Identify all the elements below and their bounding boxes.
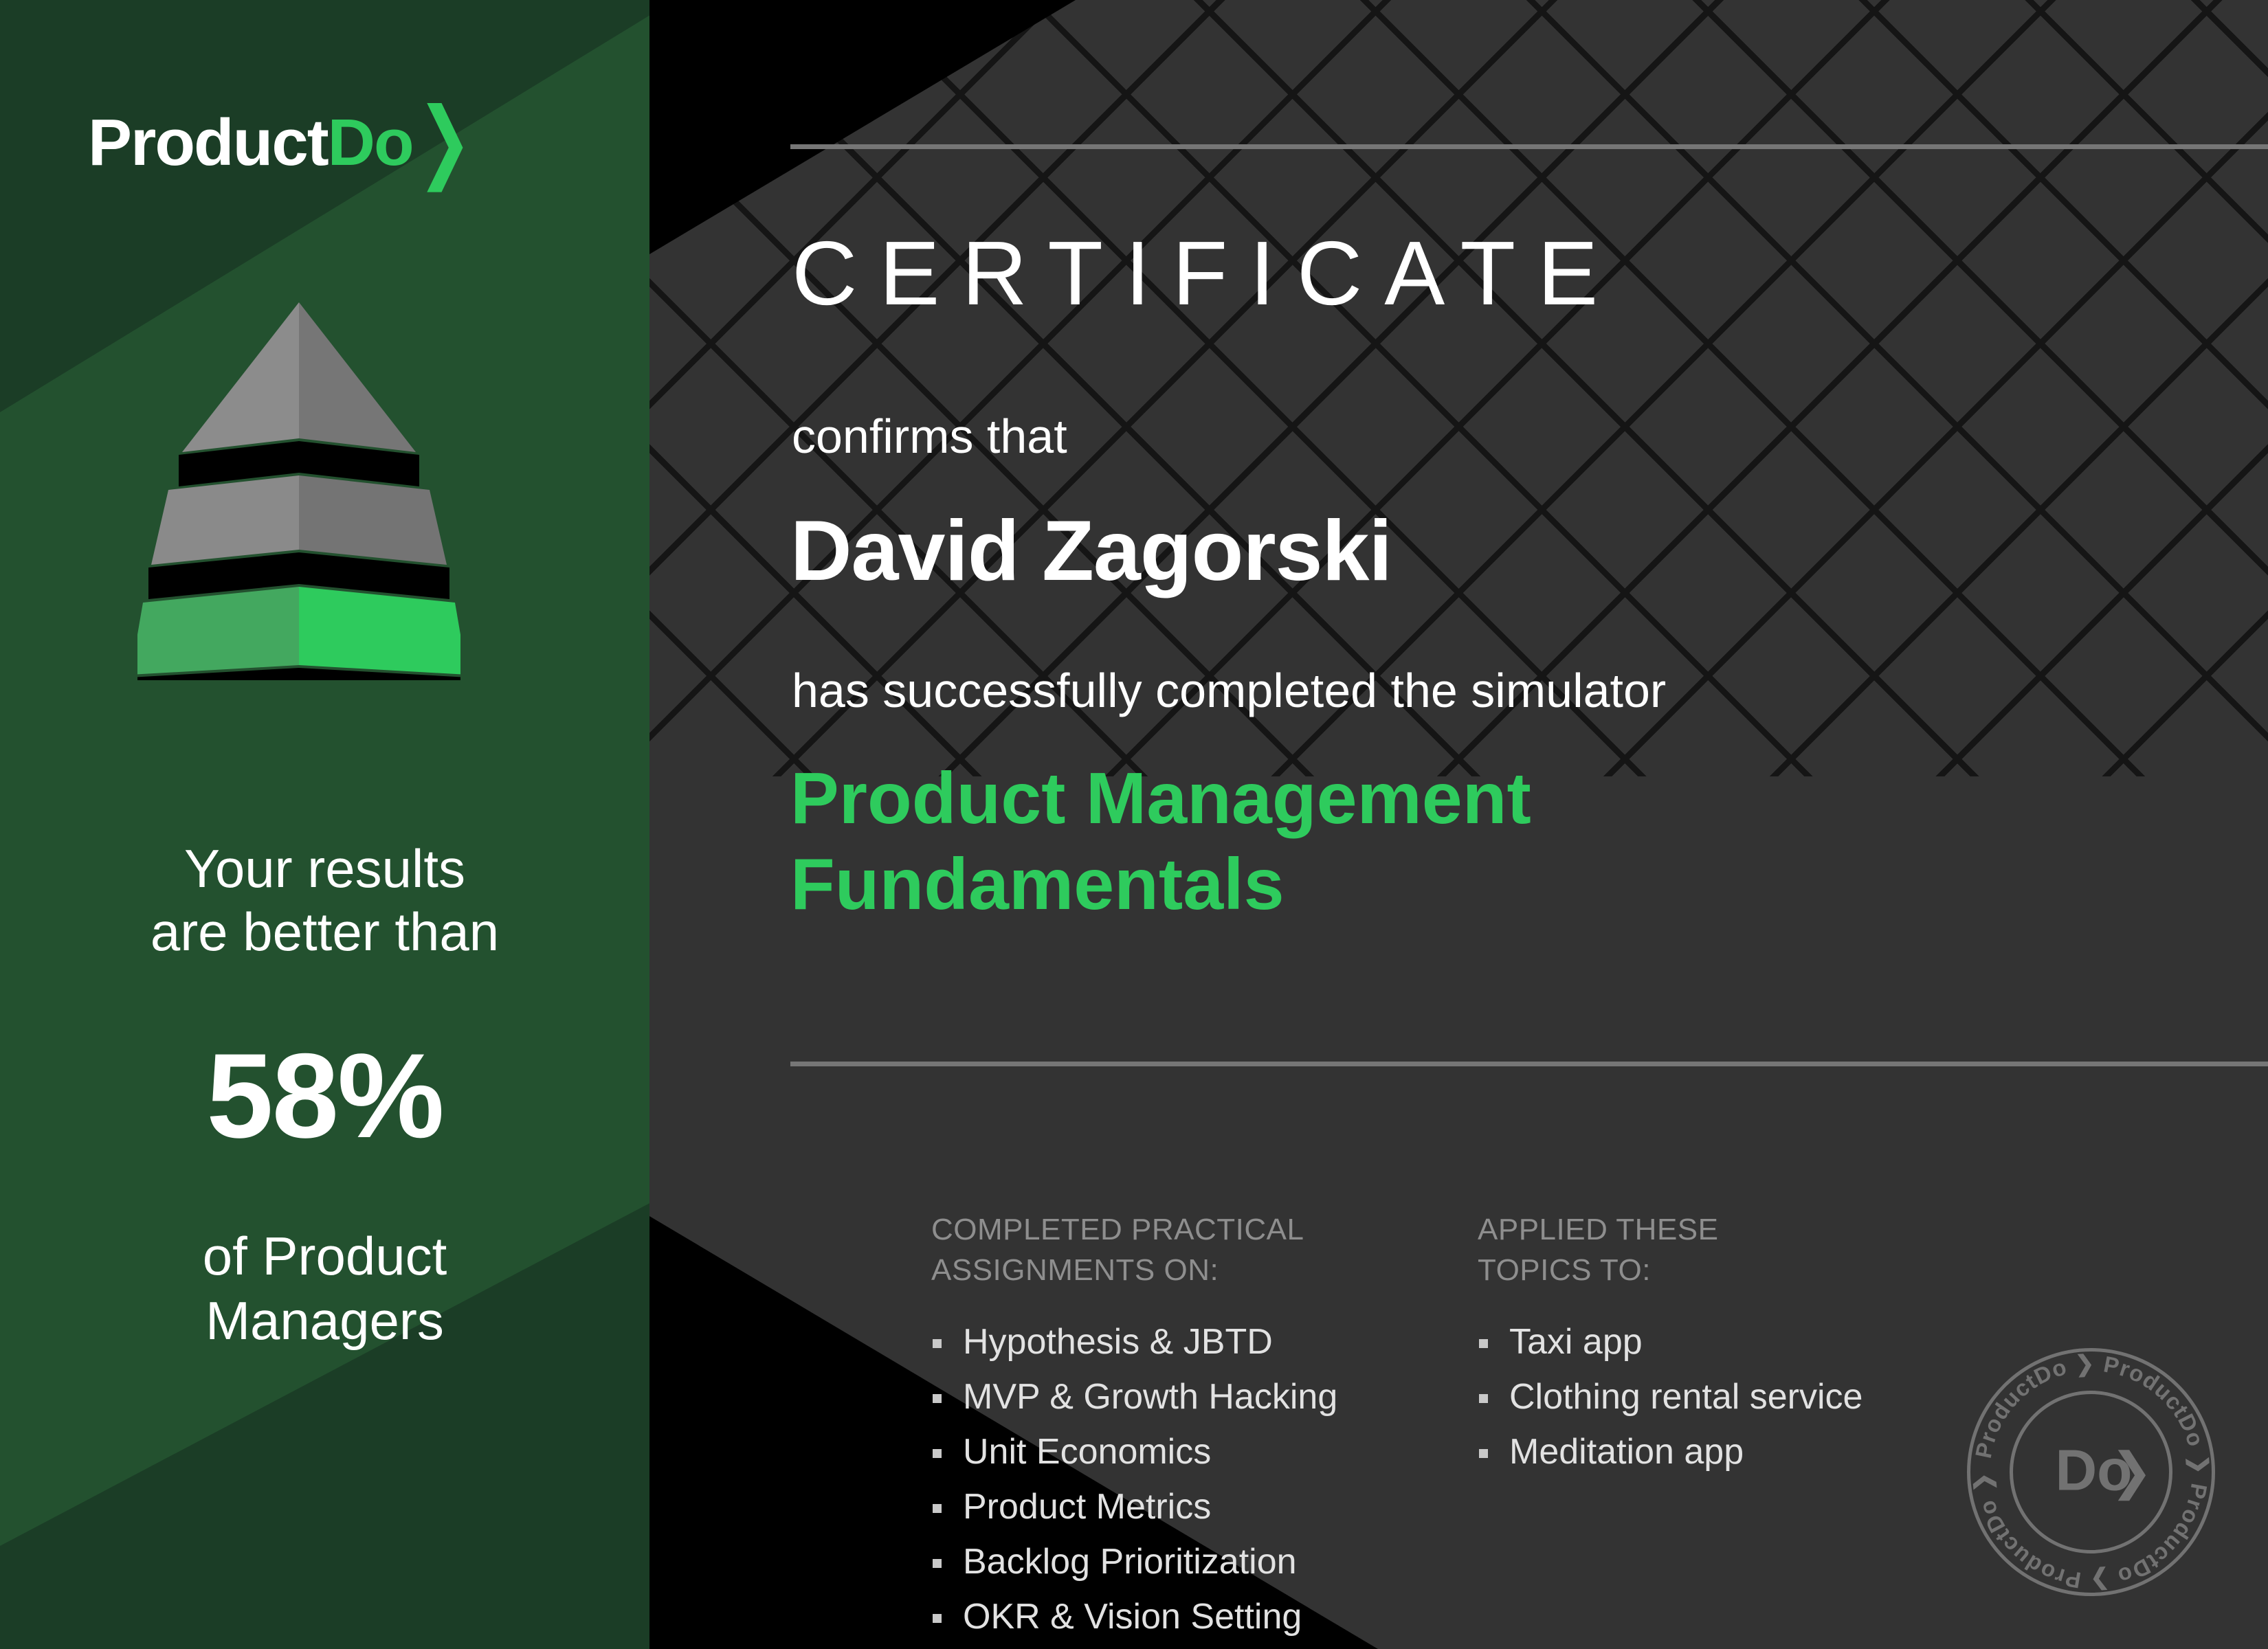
list-item: Product Metrics bbox=[931, 1489, 1467, 1525]
column-completed-assignments: COMPLETED PRACTICAL ASSIGNMENTS ON: Hypo… bbox=[931, 1209, 1467, 1649]
productdo-seal-stamp: ProductDo ❯ ProductDo ❯ ProductDo ❯ Prod… bbox=[1962, 1343, 2220, 1601]
list-item: Backlog Prioritization bbox=[931, 1544, 1467, 1580]
pyramid-logo-icon bbox=[137, 295, 460, 680]
logo-word-do: Do bbox=[328, 106, 413, 179]
chevron-right-icon: ❯ bbox=[417, 97, 471, 186]
list-item: Meditation app bbox=[1478, 1434, 1959, 1470]
assignments-heading-line-1: COMPLETED PRACTICAL bbox=[931, 1209, 1467, 1250]
list-item-label: Taxi app bbox=[1509, 1322, 1643, 1362]
audience-line-1: of Product bbox=[0, 1224, 649, 1289]
column-heading-topics: APPLIED THESE TOPICS TO: bbox=[1478, 1209, 1959, 1291]
list-item-label: Product Metrics bbox=[963, 1487, 1211, 1527]
completion-statement: has successfully completed the simulator bbox=[792, 666, 1666, 715]
column-heading-assignments: COMPLETED PRACTICAL ASSIGNMENTS ON: bbox=[931, 1209, 1467, 1291]
list-item-label: Meditation app bbox=[1509, 1432, 1744, 1472]
list-item-label: Backlog Prioritization bbox=[963, 1542, 1297, 1582]
course-title: Product Management Fundamentals bbox=[790, 756, 1531, 928]
list-item: Hypothesis & JBTD bbox=[931, 1324, 1467, 1360]
results-line-2: are better than bbox=[0, 900, 649, 963]
svg-text:❯: ❯ bbox=[2111, 1443, 2153, 1501]
audience-label: of Product Managers bbox=[0, 1224, 649, 1353]
diagonal-highlight-stripe bbox=[0, 0, 649, 1649]
course-title-line-1: Product Management bbox=[790, 756, 1531, 842]
list-item-label: OKR & Vision Setting bbox=[963, 1597, 1302, 1637]
list-item: Taxi app bbox=[1478, 1324, 1959, 1360]
list-item: MVP & Growth Hacking bbox=[931, 1379, 1467, 1415]
course-title-line-2: Fundamentals bbox=[790, 842, 1531, 928]
recipient-name: David Zagorski bbox=[790, 508, 1392, 594]
results-headline: Your results are better than bbox=[0, 837, 649, 963]
list-item: OKR & Vision Setting bbox=[931, 1599, 1467, 1635]
list-item-label: Clothing rental service bbox=[1509, 1377, 1863, 1417]
list-item-label: MVP & Growth Hacking bbox=[963, 1377, 1337, 1417]
list-item-label: Hypothesis & JBTD bbox=[963, 1322, 1273, 1362]
page-title: CERTIFICATE bbox=[792, 228, 1620, 319]
results-line-1: Your results bbox=[0, 837, 649, 900]
divider-bottom bbox=[790, 1062, 2268, 1066]
certificate-canvas: ProductDo❯ Your results are better t bbox=[0, 0, 2268, 1649]
topics-list: Taxi app Clothing rental service Meditat… bbox=[1478, 1324, 1959, 1470]
audience-line-2: Managers bbox=[0, 1289, 649, 1354]
productdo-logo[interactable]: ProductDo❯ bbox=[88, 110, 471, 176]
topics-heading-line-1: APPLIED THESE bbox=[1478, 1209, 1959, 1250]
assignments-list: Hypothesis & JBTD MVP & Growth Hacking U… bbox=[931, 1324, 1467, 1635]
list-item: Clothing rental service bbox=[1478, 1379, 1959, 1415]
list-item-label: Unit Economics bbox=[963, 1432, 1211, 1472]
confirms-label: confirms that bbox=[792, 412, 1067, 460]
column-applied-topics: APPLIED THESE TOPICS TO: Taxi app Clothi… bbox=[1478, 1209, 1959, 1489]
list-item: Unit Economics bbox=[931, 1434, 1467, 1470]
sidebar-panel bbox=[0, 0, 649, 1649]
assignments-heading-line-2: ASSIGNMENTS ON: bbox=[931, 1250, 1467, 1290]
logo-word-product: Product bbox=[88, 106, 328, 179]
topics-heading-line-2: TOPICS TO: bbox=[1478, 1250, 1959, 1290]
divider-top bbox=[790, 144, 2268, 149]
percentile-value: 58% bbox=[0, 1036, 649, 1156]
